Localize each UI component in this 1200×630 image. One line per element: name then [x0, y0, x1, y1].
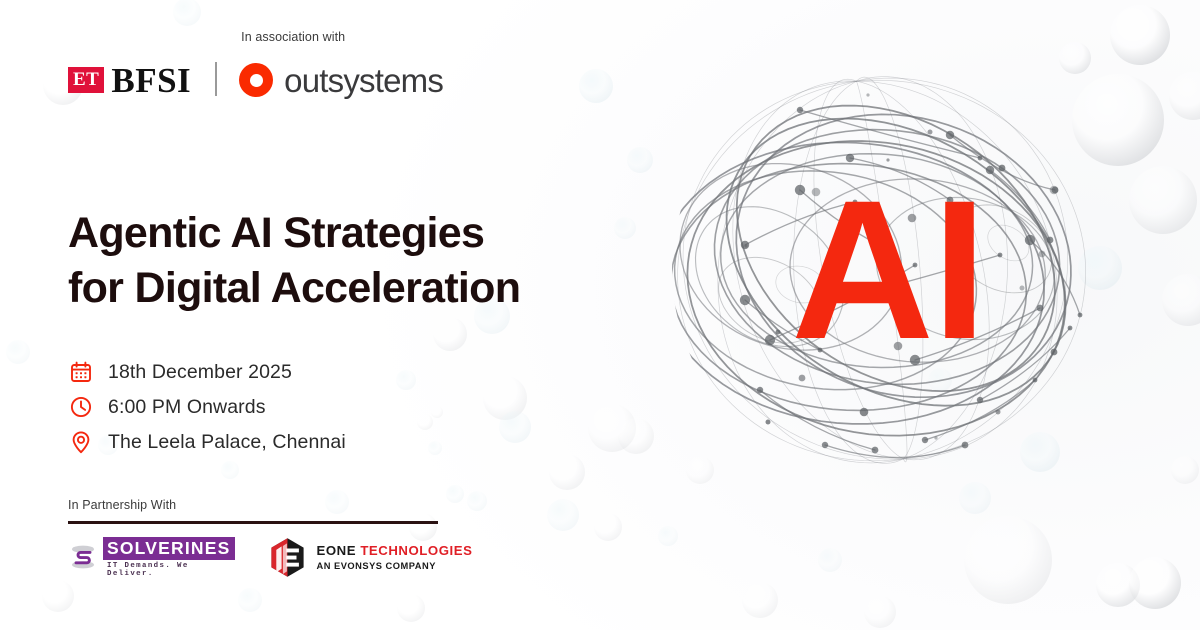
logo-divider: [215, 62, 217, 96]
bokeh-bubble: [6, 340, 30, 364]
event-banner: AI ET BFSI In association with outsystem…: [0, 0, 1200, 630]
partnership-divider: [68, 521, 438, 524]
detail-row-time: 6:00 PM Onwards: [68, 391, 346, 423]
et-mark: ET: [68, 67, 104, 93]
solverines-wordmark: SOLVERINES: [103, 537, 235, 561]
eone-technologies-logo[interactable]: EONE TECHNOLOGIES AN EVONSYS COMPANY: [267, 537, 473, 578]
eone-name: EONE: [317, 543, 357, 558]
bokeh-bubble: [1169, 72, 1200, 120]
event-details-list: 18th December 2025 6:00 PM Onwards: [68, 356, 346, 461]
bokeh-bubble: [658, 526, 678, 546]
partnership-label: In Partnership With: [68, 498, 438, 512]
ai-text: AI: [791, 171, 985, 369]
event-venue: The Leela Palace, Chennai: [108, 431, 346, 454]
partner-logos-row: SOLVERINES IT Demands. We Deliver.: [68, 537, 438, 579]
event-date: 18th December 2025: [108, 361, 292, 384]
outsystems-logo[interactable]: outsystems: [239, 63, 443, 97]
bokeh-bubble: [1129, 557, 1181, 609]
bokeh-bubble: [1171, 456, 1199, 484]
detail-row-venue: The Leela Palace, Chennai: [68, 426, 346, 458]
ai-sphere-graphic: AI: [650, 40, 1110, 500]
etbfsi-logo[interactable]: ET BFSI: [68, 63, 191, 97]
bokeh-bubble: [1110, 5, 1170, 65]
location-pin-icon: [68, 429, 94, 455]
bfsi-wordmark: BFSI: [111, 63, 191, 98]
eone-text-block: EONE TECHNOLOGIES AN EVONSYS COMPANY: [317, 543, 473, 571]
eone-wordmark: EONE TECHNOLOGIES: [317, 543, 473, 559]
solverines-tagline: IT Demands. We Deliver.: [103, 562, 235, 578]
calendar-icon: [68, 359, 94, 385]
association-block: In association with outsystems: [239, 63, 443, 97]
outsystems-wordmark: outsystems: [284, 64, 443, 97]
page-title: Agentic AI Strategies for Digital Accele…: [68, 206, 598, 315]
bokeh-bubble: [1129, 166, 1197, 234]
eone-tagline: AN EVONSYS COMPANY: [317, 561, 473, 571]
logo-row: ET BFSI In association with outsystems: [68, 62, 443, 97]
solverines-text-block: SOLVERINES IT Demands. We Deliver.: [103, 537, 235, 579]
bokeh-bubble: [964, 516, 1052, 604]
eone-hexagon-icon: [267, 537, 308, 578]
solverines-logo[interactable]: SOLVERINES IT Demands. We Deliver.: [68, 537, 235, 579]
solverines-s-icon: [68, 542, 98, 572]
ai-overlay-text: AI: [650, 40, 1110, 500]
association-label: In association with: [241, 30, 345, 44]
headline-line-2: for Digital Acceleration: [68, 264, 520, 312]
bokeh-bubble: [818, 548, 842, 572]
bokeh-bubble: [742, 582, 778, 618]
content-column: ET BFSI In association with outsystems A…: [68, 0, 628, 630]
partnership-section: In Partnership With SOLVERINES IT Demand…: [68, 498, 438, 578]
detail-row-date: 18th December 2025: [68, 356, 346, 388]
bokeh-bubble: [864, 596, 896, 628]
clock-icon: [68, 394, 94, 420]
eone-technologies-word: TECHNOLOGIES: [360, 543, 472, 558]
event-time: 6:00 PM Onwards: [108, 396, 266, 419]
headline-line-1: Agentic AI Strategies: [68, 209, 484, 257]
bokeh-bubble: [1162, 274, 1200, 326]
outsystems-circle-icon: [239, 63, 273, 97]
bokeh-bubble: [1096, 563, 1140, 607]
